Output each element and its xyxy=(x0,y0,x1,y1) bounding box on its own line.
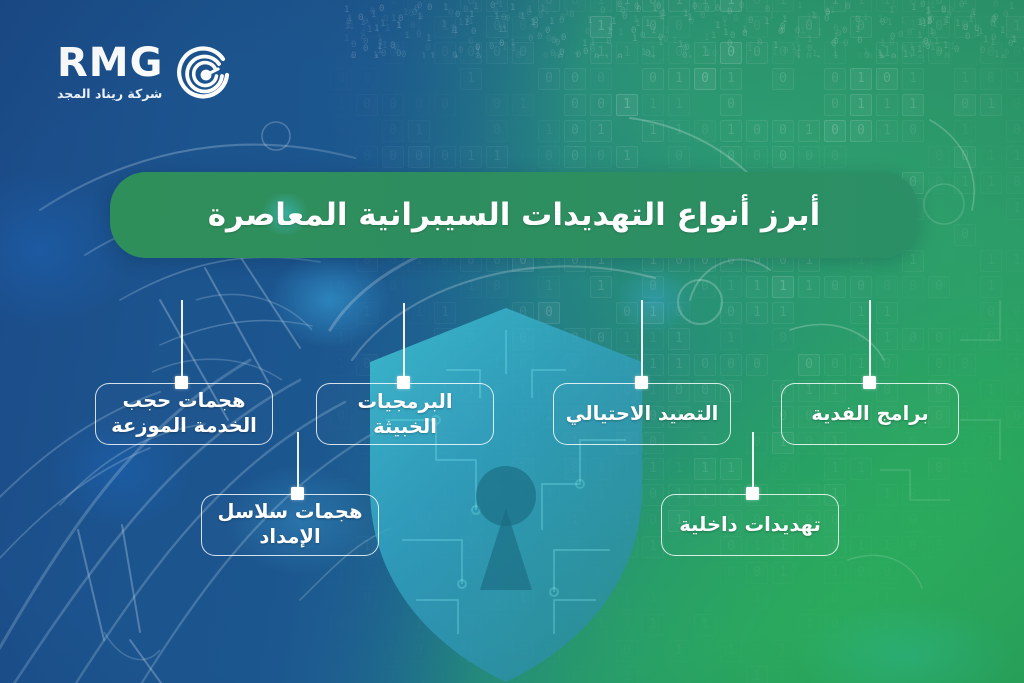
infographic-canvas: 1101001101110111100110110010000010011100… xyxy=(0,0,1024,683)
background-vignette xyxy=(0,0,1024,683)
